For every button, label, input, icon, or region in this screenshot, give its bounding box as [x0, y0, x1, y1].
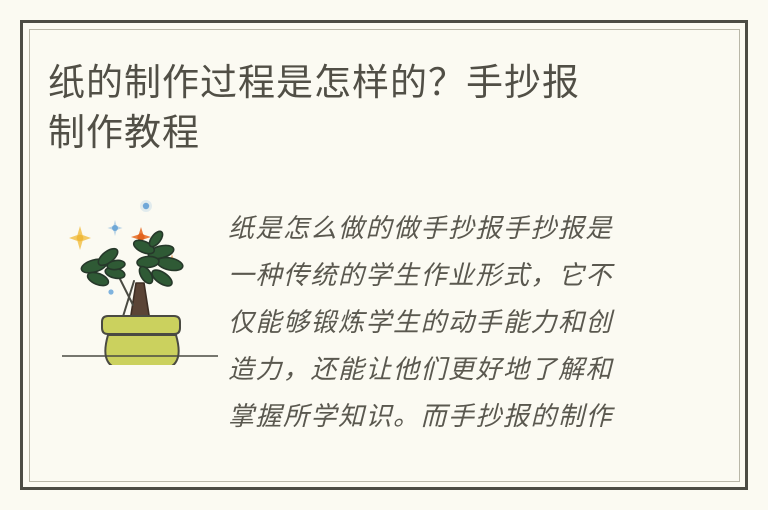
page-title: 纸的制作过程是怎样的？手抄报 制作教程	[48, 58, 648, 158]
potted-plant-illustration	[58, 195, 223, 365]
plant-leaves-left	[80, 246, 126, 289]
article-card: 纸的制作过程是怎样的？手抄报 制作教程	[0, 0, 768, 510]
plant-pot	[102, 316, 180, 365]
sparkle-blue-low-icon	[108, 289, 113, 294]
sparkle-blue-mid-icon	[108, 220, 123, 236]
sparkle-blue-top-icon-glow	[140, 200, 152, 212]
sparkle-yellow-icon	[69, 226, 91, 250]
article-body-text: 纸是怎么做的做手抄报手抄报是 一种传统的学生作业形式，它不 仅能够锻炼学生的动手…	[228, 206, 648, 441]
